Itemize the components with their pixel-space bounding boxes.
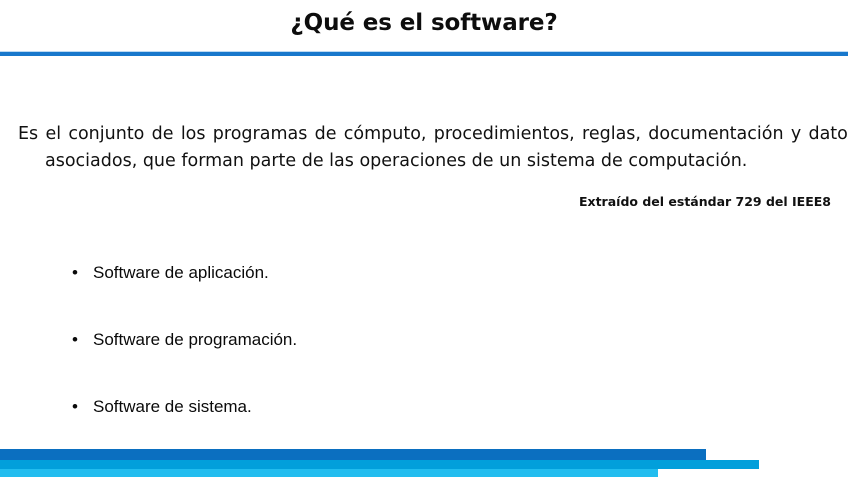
- definition-lead-text: Es el conjunto de los programas de cómpu…: [18, 124, 648, 144]
- title-area: ¿Qué es el software?: [0, 6, 848, 46]
- list-item: • Software de programación.: [72, 329, 672, 351]
- list-item-label: Software de programación.: [93, 330, 297, 349]
- footer-bar-dark: [0, 449, 706, 460]
- bullet-icon: •: [72, 262, 78, 284]
- list-item: • Software de aplicación.: [72, 262, 672, 284]
- footer-decoration: [0, 449, 848, 477]
- software-types-list: • Software de aplicación. • Software de …: [72, 262, 672, 418]
- list-item-label: Software de aplicación.: [93, 263, 269, 282]
- bullet-icon: •: [72, 396, 78, 418]
- title-divider-rule: [0, 51, 848, 56]
- source-attribution: Extraído del estándar 729 del IEEE8: [0, 193, 831, 211]
- page-title: ¿Qué es el software?: [0, 6, 848, 40]
- footer-bar-medium: [0, 460, 759, 469]
- definition-paragraph: Es el conjunto de los programas de cómpu…: [18, 121, 848, 175]
- list-item: • Software de sistema.: [72, 396, 672, 418]
- list-item-label: Software de sistema.: [93, 397, 252, 416]
- bullet-icon: •: [72, 329, 78, 351]
- slide: ¿Qué es el software? Es el conjunto de l…: [0, 0, 848, 477]
- footer-bar-light: [0, 469, 658, 477]
